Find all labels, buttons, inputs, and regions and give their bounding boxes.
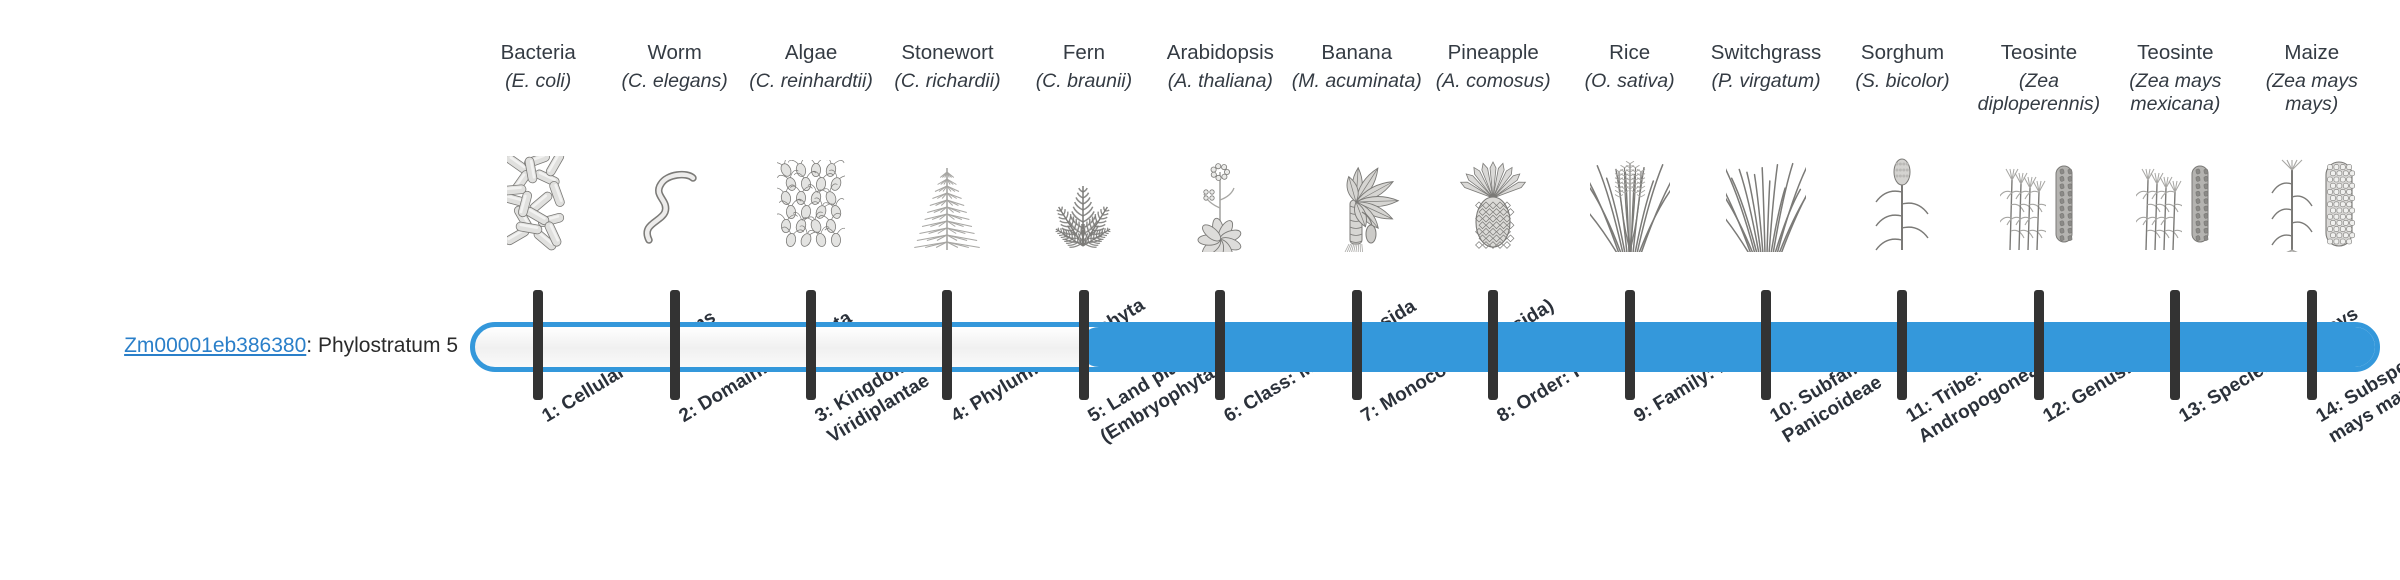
species-scientific-name: (A. comosus) [1425, 70, 1561, 93]
phylostratum-timeline: Zm00001eb386380: Phylostratum 5 Bacteria… [0, 0, 2400, 580]
species-common-name: Maize [2244, 40, 2380, 66]
species-common-name: Sorghum [1834, 40, 1970, 66]
species-scientific-name: (Zea mays mays) [2244, 70, 2380, 116]
phylostratum-tick-1[interactable] [533, 290, 543, 400]
species-column-fern-5: Fern(C. braunii)5: Land plants (Embryoph… [1016, 0, 1152, 580]
species-common-name: Teosinte [1971, 40, 2107, 66]
phylostratum-tick-2[interactable] [670, 290, 680, 400]
phylostratum-tick-6[interactable] [1215, 290, 1225, 400]
progress-fill [1079, 327, 2375, 367]
species-scientific-name: (Zea mays mexicana) [2107, 70, 2243, 116]
phylostratum-tick-8[interactable] [1488, 290, 1498, 400]
species-common-name: Teosinte [2107, 40, 2243, 66]
species-scientific-name: (C. elegans) [606, 70, 742, 93]
fern-icon [1016, 152, 1152, 252]
species-column-worm-2: Worm(C. elegans)2: Domain: Eukaryota [606, 0, 742, 580]
species-column-rice-9: Rice(O. sativa)9: Family: Poaceae [1561, 0, 1697, 580]
banana-plant-icon [1289, 152, 1425, 252]
progress-track [470, 322, 2380, 372]
worm-icon [606, 152, 742, 252]
teosinte-plant-cob-icon [2107, 152, 2243, 252]
species-scientific-name: (O. sativa) [1561, 70, 1697, 93]
species-scientific-name: (E. coli) [470, 70, 606, 93]
species-column-algae-3: Algae(C. reinhardtii)3: Kingdom: Viridip… [743, 0, 879, 580]
species-common-name: Banana [1289, 40, 1425, 66]
species-columns: Bacteria(E. coli)1: Cellular OrganismsWo… [470, 0, 2380, 580]
phylostratum-tick-14[interactable] [2307, 290, 2317, 400]
algae-icon [743, 152, 879, 252]
species-common-name: Worm [606, 40, 742, 66]
species-column-pineapple-8: Pineapple(A. comosus)8: Order: Poales [1425, 0, 1561, 580]
species-common-name: Stonewort [879, 40, 1015, 66]
teosinte-plant-cob-icon [1971, 152, 2107, 252]
phylostratum-progress-bar[interactable] [470, 322, 2380, 372]
species-scientific-name: (M. acuminata) [1289, 70, 1425, 93]
phylostratum-tick-7[interactable] [1352, 290, 1362, 400]
species-scientific-name: (C. braunii) [1016, 70, 1152, 93]
bacteria-icon [470, 152, 606, 252]
phylostratum-tick-9[interactable] [1625, 290, 1635, 400]
species-column-sorghum-11: Sorghum(S. bicolor)11: Tribe: Andropogon… [1834, 0, 1970, 580]
phylostratum-tick-10[interactable] [1761, 290, 1771, 400]
stonewort-icon [879, 152, 1015, 252]
arabidopsis-icon [1152, 152, 1288, 252]
gene-phylostratum-label: Zm00001eb386380: Phylostratum 5 [38, 334, 458, 358]
phylostratum-tick-13[interactable] [2170, 290, 2180, 400]
phylostratum-tick-4[interactable] [942, 290, 952, 400]
maize-plant-cob-icon [2244, 152, 2380, 252]
gene-id-link[interactable]: Zm00001eb386380 [124, 334, 306, 357]
switchgrass-icon [1698, 152, 1834, 252]
rice-plant-icon [1561, 152, 1697, 252]
species-common-name: Algae [743, 40, 879, 66]
phylostratum-tick-12[interactable] [2034, 290, 2044, 400]
species-column-stonewort-4: Stonewort(C. richardii)4: Phylum: Strept… [879, 0, 1015, 580]
species-scientific-name: (Zea diploperennis) [1971, 70, 2107, 116]
species-common-name: Rice [1561, 40, 1697, 66]
pineapple-icon [1425, 152, 1561, 252]
species-column-bacteria-1: Bacteria(E. coli)1: Cellular Organisms [470, 0, 606, 580]
species-scientific-name: (C. richardii) [879, 70, 1015, 93]
species-column-teosinte-12: Teosinte(Zea diploperennis)12: Genus: Ze… [1971, 0, 2107, 580]
species-scientific-name: (P. virgatum) [1698, 70, 1834, 93]
species-scientific-name: (A. thaliana) [1152, 70, 1288, 93]
species-common-name: Arabidopsis [1152, 40, 1288, 66]
sorghum-icon [1834, 152, 1970, 252]
species-common-name: Bacteria [470, 40, 606, 66]
species-scientific-name: (S. bicolor) [1834, 70, 1970, 93]
species-column-arabidopsis-6: Arabidopsis(A. thaliana)6: Class: Magnol… [1152, 0, 1288, 580]
gene-label-separator: : [306, 334, 318, 357]
species-column-maize-14: Maize(Zea mays mays)14: Subspecies: Zea … [2244, 0, 2380, 580]
phylostratum-tick-5[interactable] [1079, 290, 1089, 400]
species-column-switchgrass-10: Switchgrass(P. virgatum)10: Subfamily: P… [1698, 0, 1834, 580]
phylostratum-tick-3[interactable] [806, 290, 816, 400]
species-common-name: Pineapple [1425, 40, 1561, 66]
species-column-banana-7: Banana(M. acuminata)7: Monocots (Liliops… [1289, 0, 1425, 580]
phylostratum-tick-11[interactable] [1897, 290, 1907, 400]
species-common-name: Fern [1016, 40, 1152, 66]
species-common-name: Switchgrass [1698, 40, 1834, 66]
species-column-teosinte-13: Teosinte(Zea mays mexicana)13: Species: … [2107, 0, 2243, 580]
phylostratum-value: Phylostratum 5 [318, 334, 458, 357]
species-scientific-name: (C. reinhardtii) [743, 70, 879, 93]
